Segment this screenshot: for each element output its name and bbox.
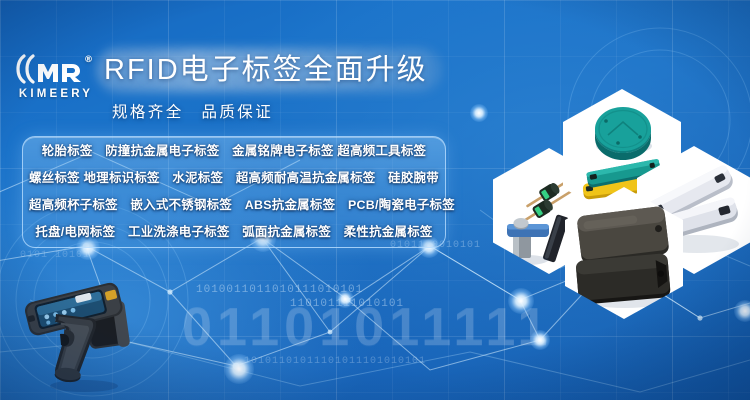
registered-symbol: ® — [84, 55, 92, 65]
logo[interactable]: ® KIMEERY — [14, 52, 98, 108]
background-binary-2: 110101111010101 — [290, 298, 404, 310]
tag-row: 轮胎标签 防撞抗金属电子标签 金属铭牌电子标签 超高频工具标签 — [29, 138, 439, 165]
logo-brand-text: KIMEERY — [14, 88, 98, 100]
tag-row: 超高频杯子标签 嵌入式不锈钢标签 ABS抗金属标签 PCB/陶瓷电子标签 — [29, 192, 439, 219]
background-binary-4: 10101101011101011101010101 — [244, 356, 426, 367]
kimeery-monogram-icon: ® — [14, 52, 98, 86]
rfid-promo-banner: 01101011111 1010011011010111010101 11010… — [0, 0, 750, 400]
tag-list-panel: 轮胎标签 防撞抗金属电子标签 金属铭牌电子标签 超高频工具标签 螺丝标签 地理标… — [22, 136, 446, 248]
background-binary-1: 1010011011010111010101 — [196, 284, 363, 296]
glow-node-9 — [734, 300, 750, 322]
glow-node-10 — [336, 290, 354, 308]
handheld-rfid-reader[interactable] — [22, 272, 154, 394]
glow-node-8 — [470, 104, 488, 122]
page-title: RFID电子标签全面升级 — [104, 52, 444, 88]
background-binary-large: 01101011111 — [182, 296, 552, 358]
glow-node-4 — [508, 288, 534, 314]
handheld-rfid-reader-image — [22, 272, 154, 394]
tag-row: 托盘/电网标签 工业洗涤电子标签 弧面抗金属标签 柔性抗金属标签 — [29, 219, 439, 246]
glow-node-7 — [530, 330, 550, 350]
page-subtitle: 规格齐全 品质保证 — [112, 100, 273, 122]
tag-row: 螺丝标签 地理标识标签 水泥标签 超高频耐高温抗金属标签 硅胶腕带 — [29, 165, 439, 192]
glow-node-3 — [224, 354, 254, 384]
logo-mark: ® — [14, 52, 98, 86]
background-binary-5: 0101 10101 — [20, 250, 90, 261]
